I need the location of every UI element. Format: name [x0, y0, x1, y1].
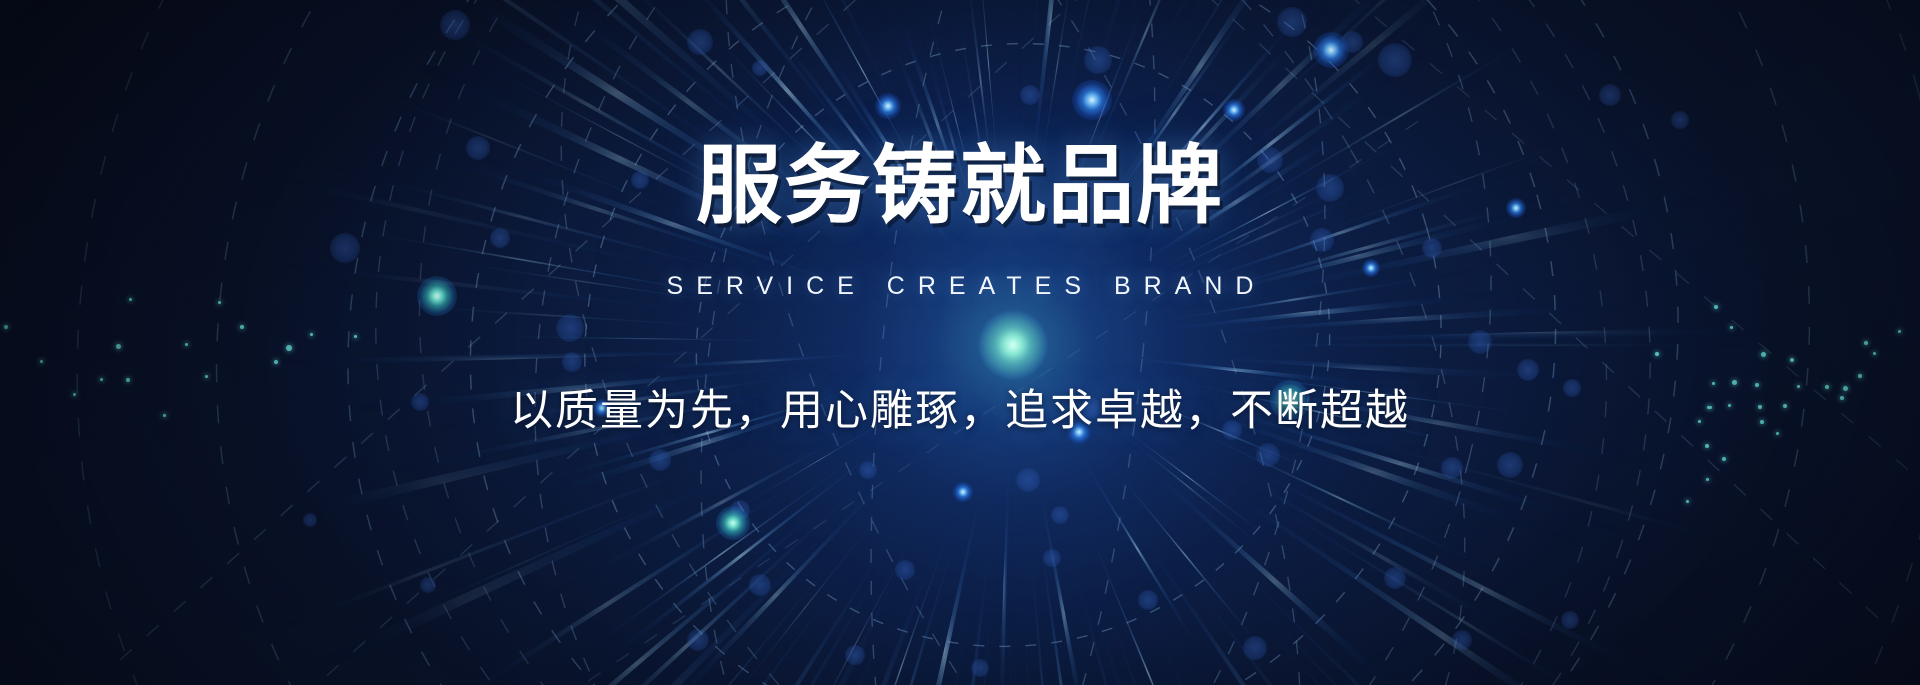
star-speck: [100, 378, 103, 381]
star-speck: [40, 360, 43, 363]
star-speck: [4, 325, 8, 329]
star-speck: [73, 393, 76, 396]
hero-banner: 服务铸就品牌 SERVICE CREATES BRAND 以质量为先，用心雕琢，…: [0, 0, 1920, 685]
burst-core: [979, 311, 1047, 379]
